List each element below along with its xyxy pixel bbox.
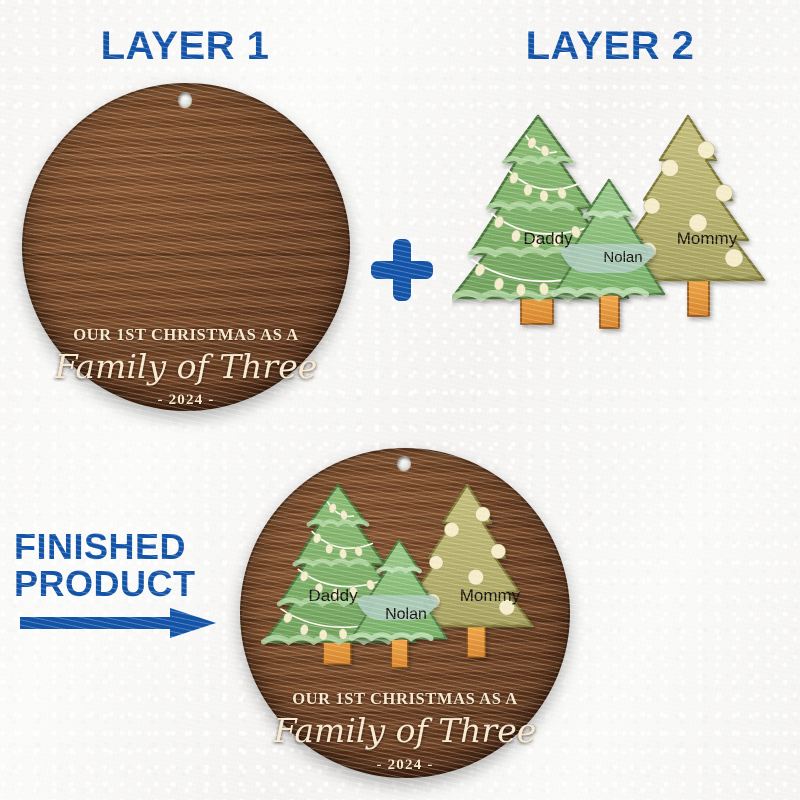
layer-1-wood-disc — [22, 83, 350, 411]
layer-2-tree-group — [452, 108, 782, 340]
plus-icon — [371, 239, 433, 301]
finished-product-title-line2: PRODUCT — [14, 565, 224, 602]
right-arrow-icon — [20, 606, 216, 640]
finished-product-tree-group — [256, 478, 556, 678]
hanging-hole-layer1 — [178, 92, 192, 108]
hanging-hole-finished — [397, 456, 411, 471]
layer-1-title: LAYER 1 — [30, 26, 340, 66]
disc-edge-layer1 — [22, 83, 350, 411]
plus-icon-vertical-bar — [393, 239, 411, 301]
composite-product-mockup: LAYER 1 LAYER 2 FINISHED PRODUCT OUR 1ST… — [0, 0, 800, 800]
finished-product-title-line1: FINISHED — [14, 528, 224, 565]
layer-2-title: LAYER 2 — [455, 26, 765, 66]
finished-product-title: FINISHED PRODUCT — [14, 528, 224, 602]
